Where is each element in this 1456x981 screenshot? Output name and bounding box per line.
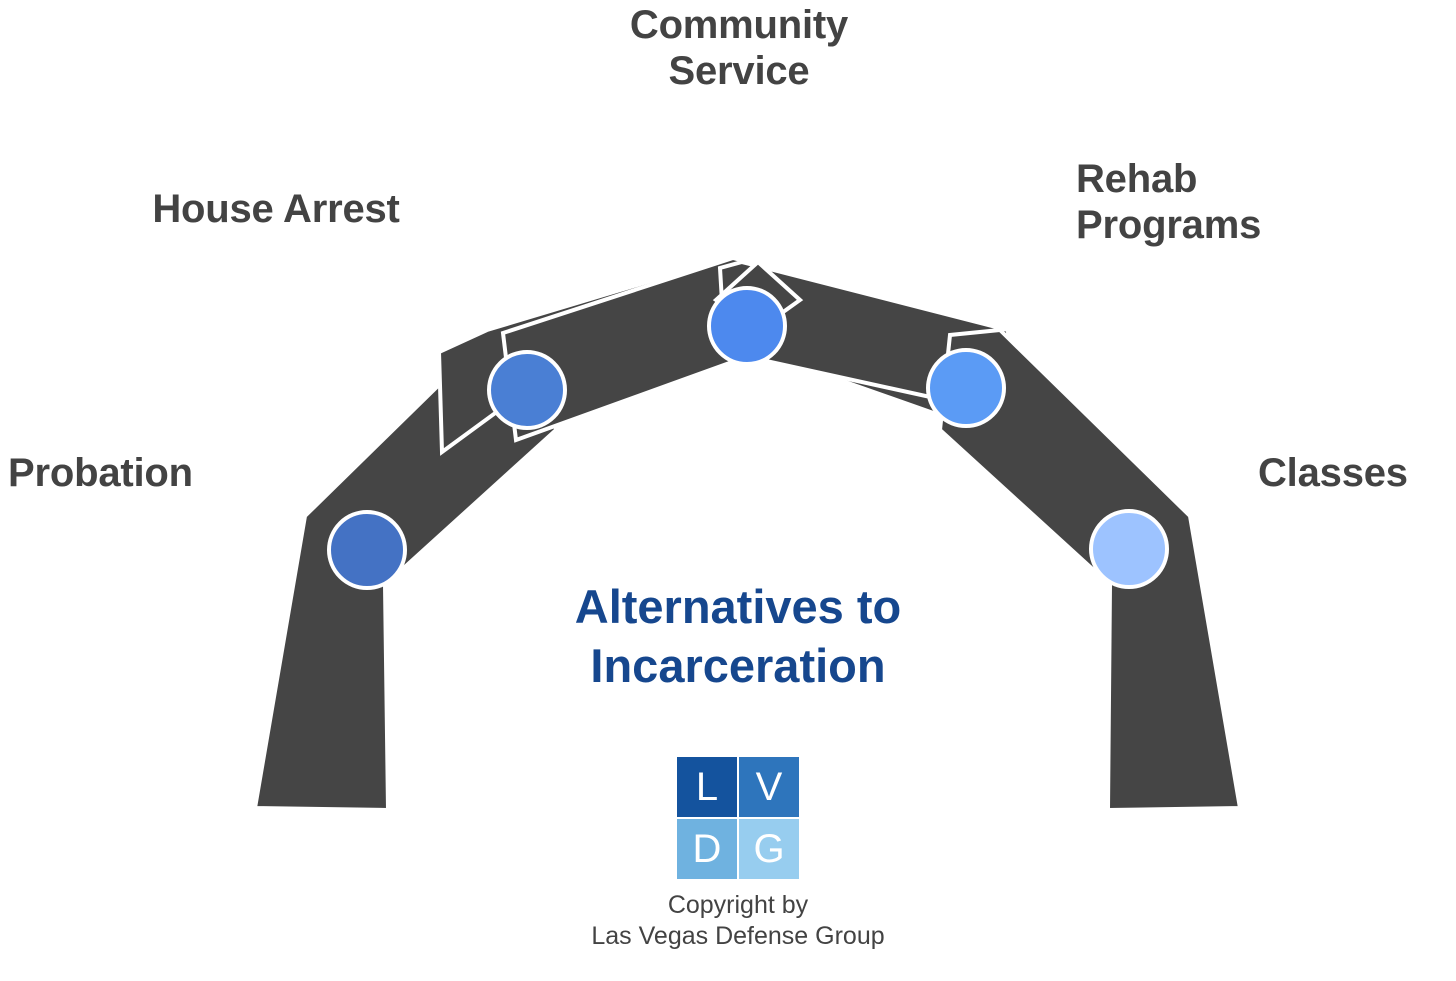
node-circle-community-service[interactable] bbox=[709, 288, 785, 364]
logo-block: L V D G Copyright by Las Vegas Defense G… bbox=[578, 757, 898, 953]
logo-cell-g: G bbox=[739, 819, 799, 879]
logo-cell-l: L bbox=[677, 757, 737, 817]
node-circle-rehab-programs[interactable] bbox=[928, 350, 1004, 426]
infographic-canvas: Community Service House Arrest Rehab Pro… bbox=[0, 0, 1456, 981]
page-title: Alternatives to Incarceration bbox=[478, 578, 998, 696]
logo-cell-d: D bbox=[677, 819, 737, 879]
node-label-probation: Probation bbox=[8, 450, 248, 496]
node-label-community-service: Community Service bbox=[556, 2, 922, 95]
node-label-house-arrest: House Arrest bbox=[108, 186, 444, 232]
node-circle-classes[interactable] bbox=[1091, 511, 1167, 587]
node-circle-probation[interactable] bbox=[329, 512, 405, 588]
node-label-classes: Classes bbox=[1258, 450, 1456, 496]
node-circle-house-arrest[interactable] bbox=[489, 352, 565, 428]
node-label-rehab-programs: Rehab Programs bbox=[1076, 156, 1376, 249]
logo-cell-v: V bbox=[739, 757, 799, 817]
lvdg-logo-icon: L V D G bbox=[677, 757, 799, 879]
copyright-text: Copyright by Las Vegas Defense Group bbox=[578, 890, 898, 953]
